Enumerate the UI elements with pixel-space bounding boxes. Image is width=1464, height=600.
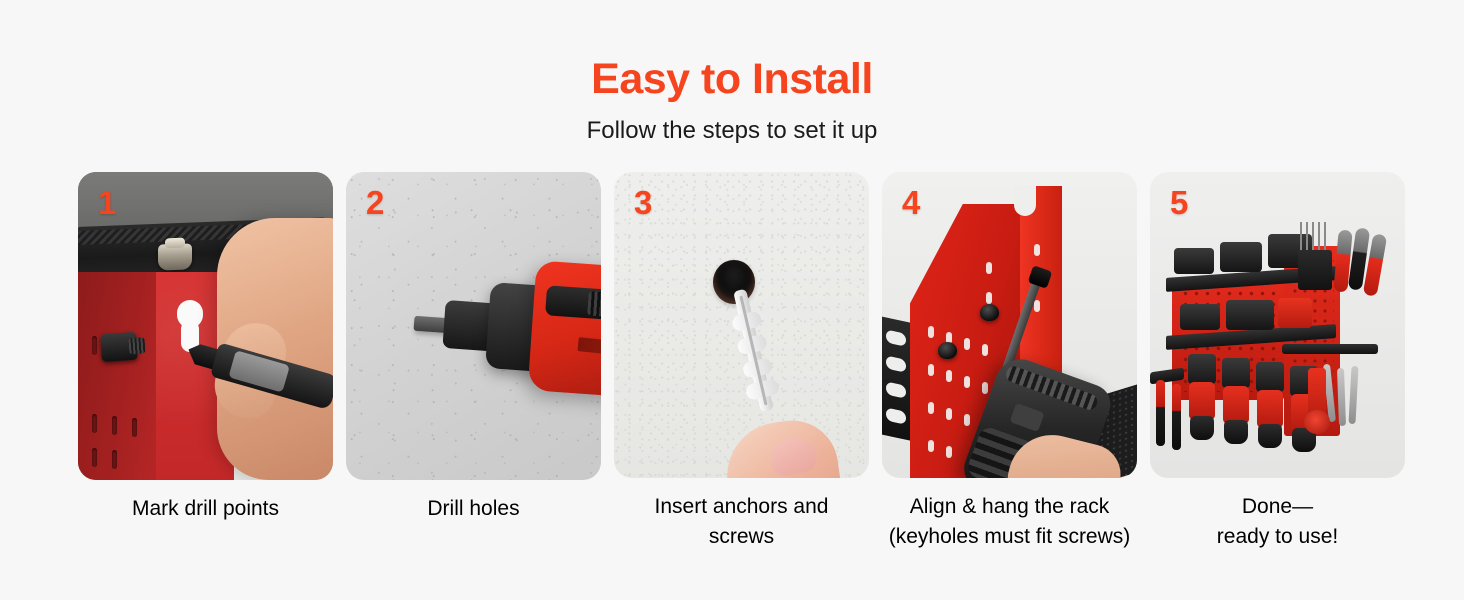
step-number: 2 (366, 186, 384, 219)
screw-head-icon (938, 342, 957, 359)
battery-pack (1278, 298, 1312, 328)
step-1-image: 1 (78, 172, 333, 480)
step-caption: Drill holes (346, 494, 601, 524)
step-5-image: 5 (1150, 172, 1405, 478)
peg-slot (112, 450, 117, 469)
step-5: 5 Done— ready to use! (1150, 172, 1405, 552)
bit-holder (1298, 250, 1332, 290)
battery-pack (1220, 242, 1262, 272)
hook-bar (1282, 344, 1378, 354)
step-caption: Done— ready to use! (1150, 492, 1405, 552)
install-steps-banner: Easy to Install Follow the steps to set … (0, 0, 1464, 600)
screw-head-icon (980, 304, 999, 321)
step-number: 5 (1170, 186, 1188, 219)
metal-bolt-icon (158, 243, 192, 270)
hammer-handle (1172, 384, 1181, 450)
peg-slot (92, 448, 97, 467)
peg-slot (92, 414, 97, 433)
drill-body (528, 260, 601, 397)
battery-pack (1226, 300, 1274, 330)
cordless-drill (1222, 358, 1250, 446)
black-bolt-icon (100, 332, 138, 362)
peg-slot (92, 336, 97, 355)
steps-row: 1 Mark drill points 2 Drill holes (78, 172, 1388, 552)
battery-pack (1174, 248, 1214, 274)
page-subtitle: Follow the steps to set it up (0, 118, 1464, 144)
header: Easy to Install Follow the steps to set … (0, 0, 1464, 144)
step-3-image: 3 (614, 172, 869, 478)
battery-pack (1180, 304, 1220, 330)
peg-slot (112, 416, 117, 435)
red-pegboard-side (78, 272, 156, 480)
step-4: 4 Align & hang the rack (keyholes must f… (882, 172, 1137, 552)
step-caption: Insert anchors and screws (614, 492, 869, 552)
bracket-notch (1014, 186, 1036, 216)
cordless-drill (1256, 362, 1284, 450)
step-caption: Align & hang the rack (keyholes must fit… (882, 492, 1137, 552)
wrench-icon (1337, 368, 1346, 426)
step-1: 1 Mark drill points (78, 172, 333, 552)
step-4-image: 4 (882, 172, 1137, 478)
page-title: Easy to Install (0, 58, 1464, 101)
hammer-handle (1156, 380, 1165, 446)
step-2-image: 2 (346, 172, 601, 480)
peg-slot (132, 418, 137, 437)
drill-grip (545, 285, 601, 320)
step-number: 3 (634, 186, 652, 219)
ratchet-tool-icon (1308, 368, 1326, 428)
cordless-drill (1188, 354, 1216, 442)
step-3: 3 Insert anchors and screws (614, 172, 869, 552)
step-number: 4 (902, 186, 920, 219)
step-caption: Mark drill points (78, 494, 333, 524)
wrench-icon (1348, 366, 1358, 424)
step-2: 2 Drill holes (346, 172, 601, 552)
step-number: 1 (98, 186, 116, 219)
